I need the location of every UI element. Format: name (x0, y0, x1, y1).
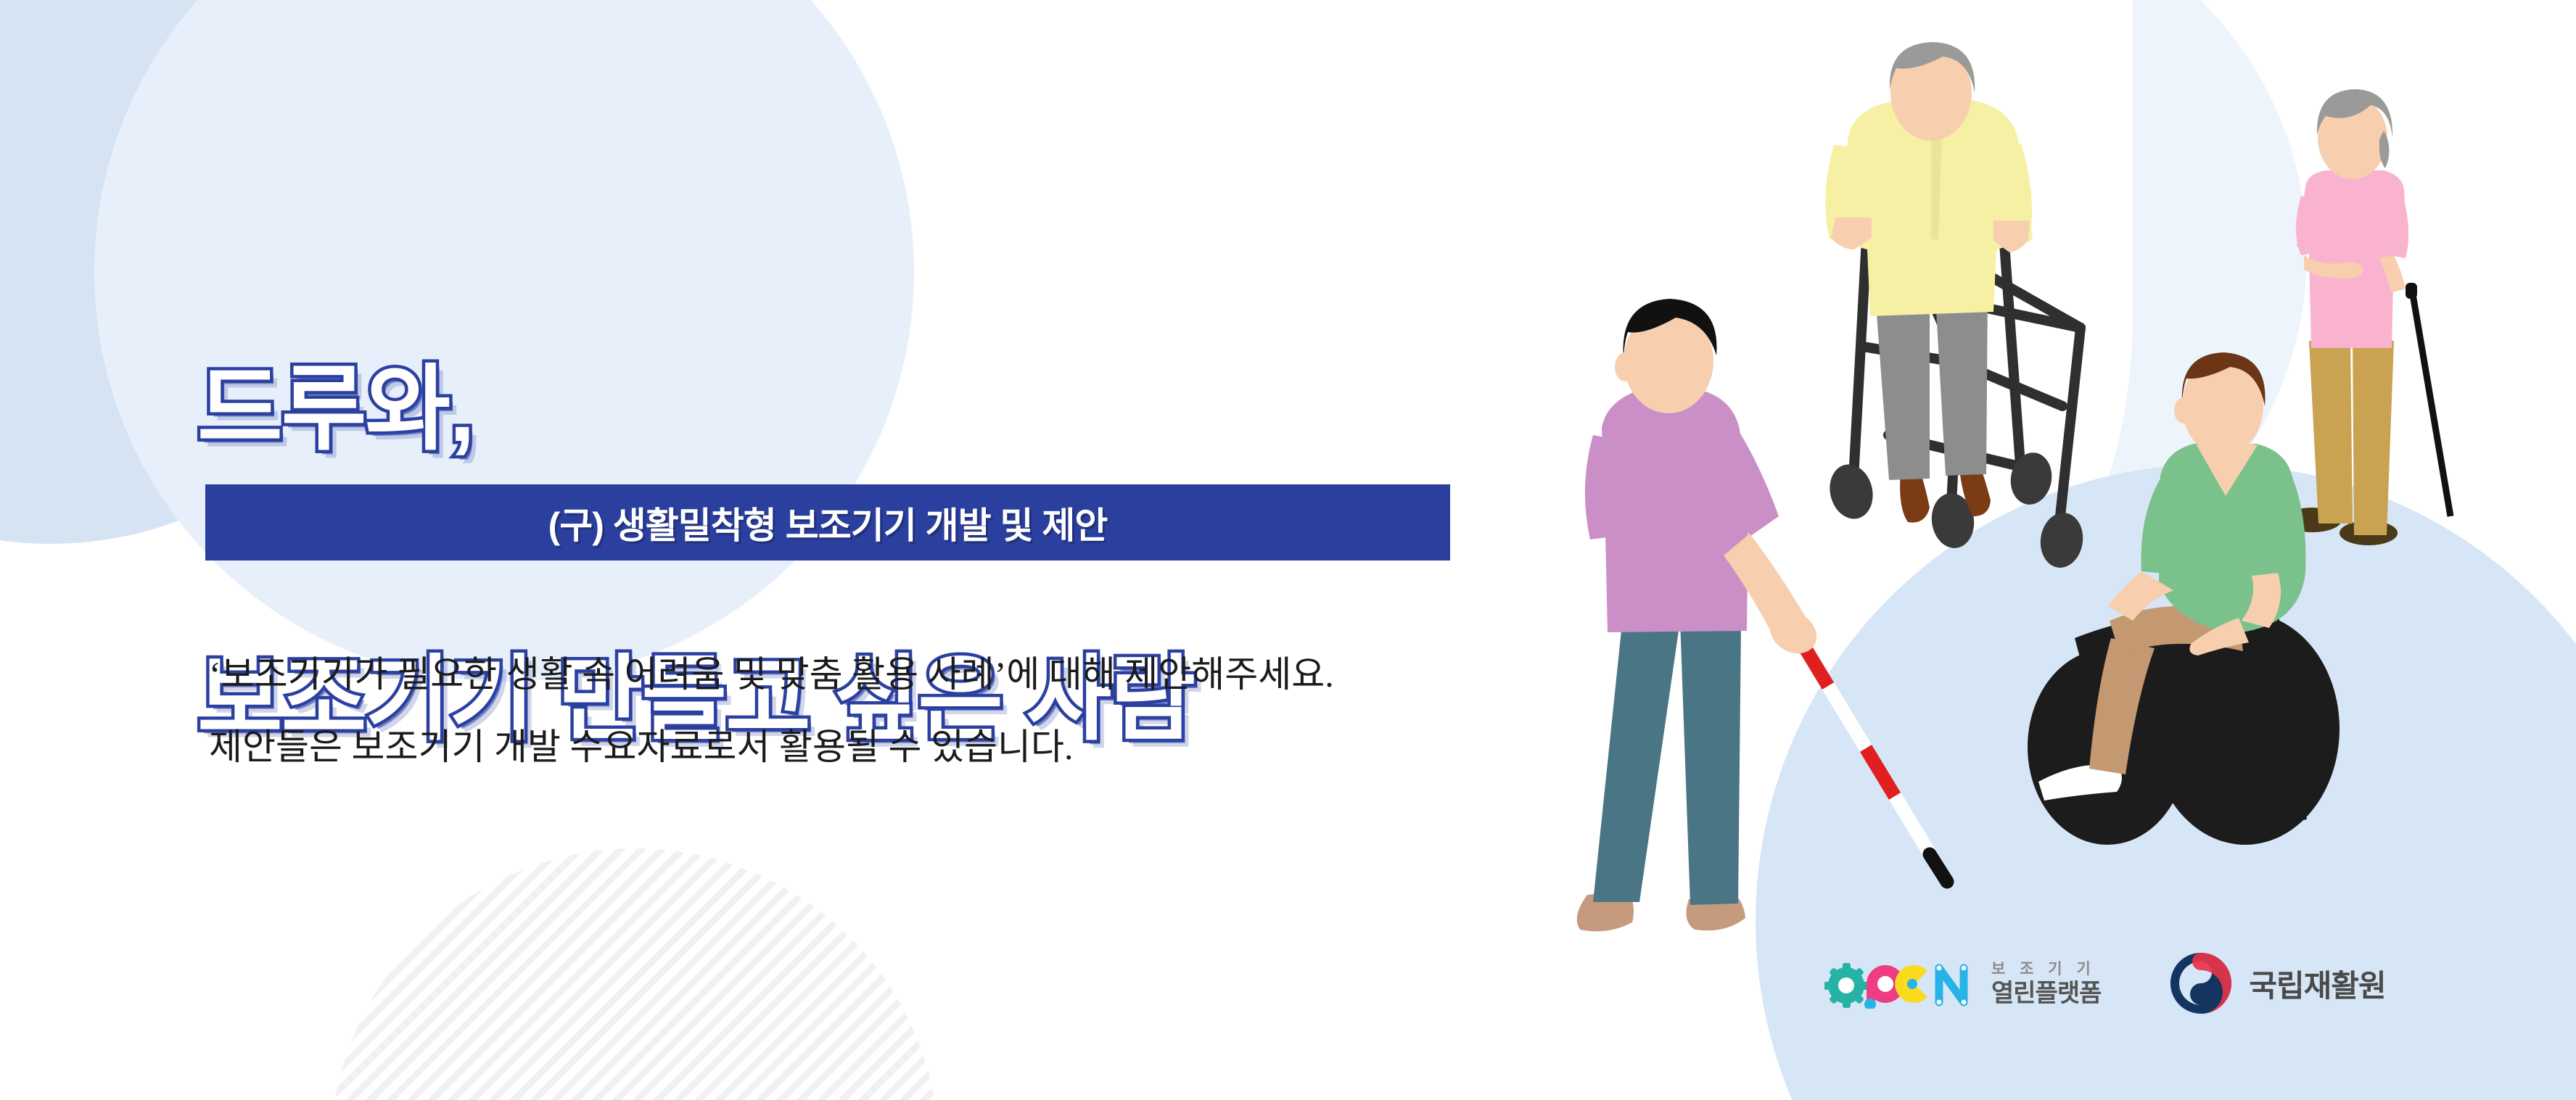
headline-line-1: 드루와, (197, 361, 1194, 458)
banner-body-text: ‘보조기기가 필요한 생활 속 어려움 및 맞춤 활용 사례’에 대해 제안해주… (209, 638, 1334, 783)
taegeuk-logo-mark (2168, 950, 2234, 1017)
logo-row: 보 조 기 기 열린플랫폼 국립재활원 (1824, 950, 2386, 1017)
government-logo-name: 국립재활원 (2249, 962, 2385, 1006)
open-platform-big-text: 열린플랫폼 (1991, 981, 2101, 1006)
figure-elderly-man-with-walker (1824, 42, 2086, 571)
promo-banner: 드루와, 보조기기 만들고 싶은 사람 (구) 생활밀착형 보조기기 개발 및 … (0, 0, 2576, 1100)
open-platform-small-text: 보 조 기 기 (1991, 962, 2101, 977)
government-logo: 국립재활원 (2168, 950, 2385, 1017)
opcn-logo-mark (1824, 958, 1977, 1009)
walking-cane-icon (2412, 290, 2451, 516)
body-line-2: 제안들은 보조기기 개발 수요자료로서 활용될 수 있습니다. (209, 711, 1334, 783)
open-platform-logo: 보 조 기 기 열린플랫폼 (1824, 958, 2101, 1009)
subtitle-bar: (구) 생활밀착형 보조기기 개발 및 제안 (205, 484, 1450, 561)
subtitle-bar-label: (구) 생활밀착형 보조기기 개발 및 제안 (548, 497, 1108, 549)
body-line-1: ‘보조기기가 필요한 생활 속 어려움 및 맞춤 활용 사례’에 대해 제안해주… (209, 638, 1334, 711)
letter-n-icon (1939, 968, 1964, 1002)
letter-c-icon (1895, 965, 1927, 1003)
open-platform-wordmark: 보 조 기 기 열린플랫폼 (1991, 962, 2101, 1006)
figure-elderly-woman-with-cane (2284, 89, 2451, 545)
